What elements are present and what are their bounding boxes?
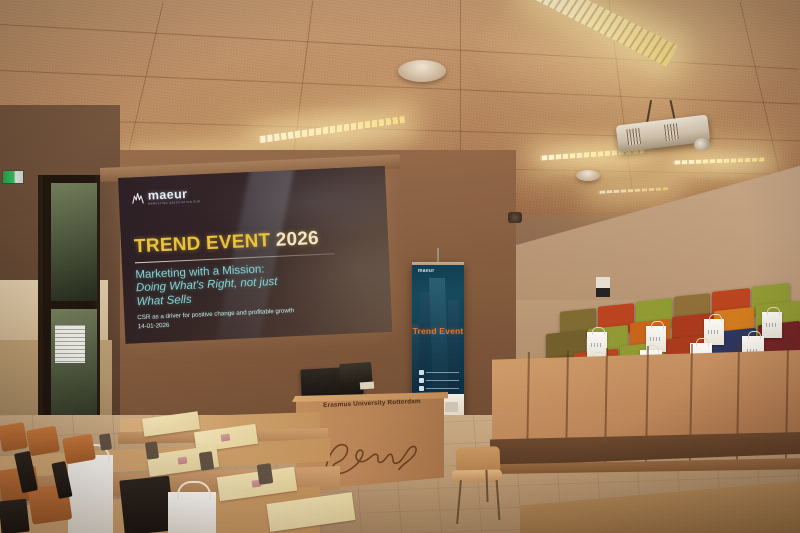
globe-icon [419, 370, 424, 375]
projector-vent [664, 123, 679, 140]
gift-bag-logo [591, 343, 603, 347]
door-notice-sheet [55, 325, 85, 363]
gift-bag-logo [766, 323, 778, 327]
maeur-mountain-icon [132, 192, 146, 206]
door-glass-panel [51, 183, 97, 301]
gift-bag-foreground [68, 455, 113, 533]
ceiling-speaker-dome [398, 60, 446, 82]
gift-bag-logo [708, 330, 720, 334]
gift-bag [762, 312, 782, 338]
foreground-chair [62, 434, 96, 465]
desk-support-bracket [145, 441, 159, 460]
banner-top-rail [412, 262, 464, 265]
wall-speaker [508, 212, 522, 223]
banner-contact-row [419, 370, 459, 375]
emergency-exit-sign [2, 170, 24, 184]
slide-title: TREND EVENT 2026 [134, 226, 376, 256]
ceiling-smoke-detector [576, 170, 600, 181]
banner-title: Trend Event [412, 326, 464, 336]
banner-contact-text [426, 380, 459, 382]
social-icon [419, 386, 424, 391]
slide-title-year: 2026 [275, 228, 319, 251]
banner-logo-text: maeur [418, 268, 435, 274]
desk-support-bracket [99, 433, 112, 450]
banner-contact-row [419, 378, 459, 383]
banner-contact-text [426, 388, 459, 390]
maeur-logo: maeur MARKETING ASSOCIATION EUR [132, 179, 374, 207]
maeur-logo-subtitle: MARKETING ASSOCIATION EUR [148, 201, 200, 206]
foreground-chair [0, 422, 28, 452]
folder-seal [177, 456, 187, 464]
slide-subtitle: Marketing with a Mission: Doing What's R… [135, 258, 378, 309]
banner-contact-row [419, 386, 459, 391]
entrance-door-frame[interactable] [38, 175, 100, 450]
gift-bag-foreground [168, 492, 216, 533]
banner-contact-text [426, 372, 459, 374]
desk-laptop-bag [119, 476, 174, 533]
wall-mounted-sign [596, 277, 610, 297]
sponsor-logo [445, 402, 458, 412]
projection-screen: maeur MARKETING ASSOCIATION EUR TREND EV… [118, 166, 392, 344]
foreground-chair [26, 426, 60, 457]
desk-support-bracket [257, 463, 274, 485]
banner-contact-block [419, 370, 459, 391]
mail-icon [419, 378, 424, 383]
gift-bag-logo [650, 337, 662, 341]
lecture-hall-photo: maeur MARKETING ASSOCIATION EUR TREND EV… [0, 0, 800, 533]
lectern-paper [360, 382, 374, 390]
folder-seal [220, 433, 230, 441]
slide-title-main: TREND EVENT [134, 230, 271, 257]
chair-support-bracket [0, 499, 30, 533]
projector-vent [626, 128, 641, 145]
slide-content: maeur MARKETING ASSOCIATION EUR TREND EV… [118, 166, 392, 344]
desk-support-bracket [199, 451, 214, 471]
